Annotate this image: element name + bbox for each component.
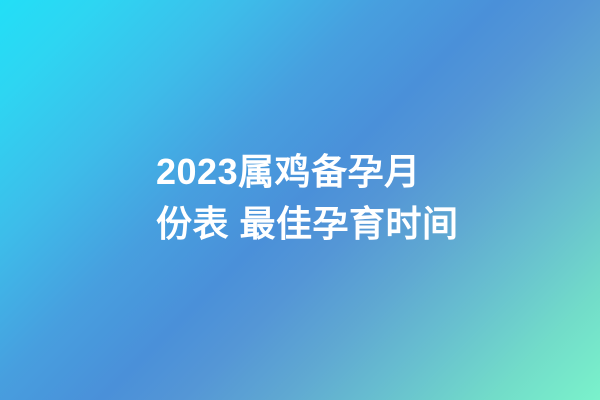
title-line-1: 2023属鸡备孕月: [156, 146, 459, 198]
page-title: 2023属鸡备孕月 份表 最佳孕育时间: [156, 146, 459, 250]
gradient-banner: 2023属鸡备孕月 份表 最佳孕育时间: [0, 0, 600, 400]
title-line-2: 份表 最佳孕育时间: [156, 198, 459, 250]
